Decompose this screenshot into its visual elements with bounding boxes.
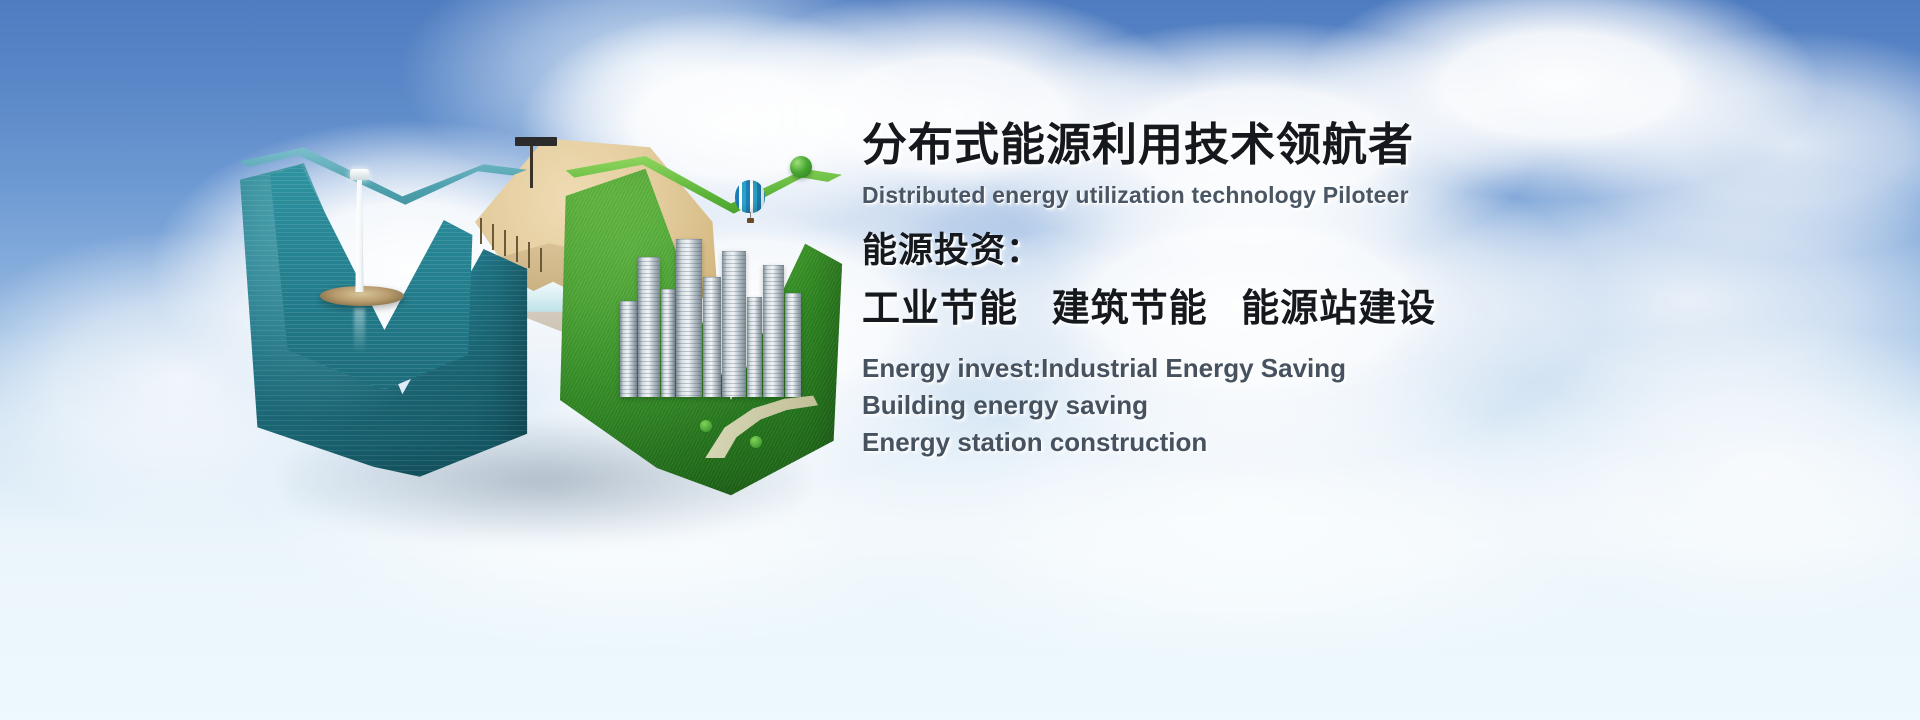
city-skyline	[618, 212, 808, 397]
tree-icon	[750, 436, 762, 448]
seagull-icon	[330, 370, 356, 381]
service-item-building-en: Building energy saving	[862, 387, 1862, 424]
service-list-cn: 工业节能 建筑节能 能源站建设	[862, 290, 1862, 328]
lighthouse-lamp-icon	[350, 169, 369, 180]
w-letter-artwork	[230, 120, 850, 520]
skyscraper-icon	[638, 257, 660, 397]
service-item-station-cn: 能源站建设	[1241, 288, 1436, 330]
seagull-icon	[342, 150, 368, 161]
skyscraper-icon	[722, 251, 746, 397]
page-subtitle: Distributed energy utilization technolog…	[862, 184, 1862, 207]
seagull-icon	[387, 258, 415, 276]
skyscraper-icon	[620, 301, 637, 397]
hot-air-balloon-icon	[735, 180, 765, 224]
service-list-en: Energy invest:Industrial Energy Saving B…	[862, 350, 1862, 461]
banner-copy: 分布式能源利用技术领航者 Distributed energy utilizat…	[862, 122, 1862, 461]
skyscraper-icon	[703, 277, 721, 397]
service-item-building-cn: 建筑节能	[1052, 288, 1208, 330]
balloon-basket	[747, 218, 754, 223]
skyscraper-icon	[763, 265, 784, 397]
tree-icon	[700, 420, 712, 432]
page-title: 分布式能源利用技术领航者	[862, 122, 1862, 167]
balloon-envelope	[735, 180, 765, 213]
service-item-industrial-en: Energy invest:Industrial Energy Saving	[862, 350, 1862, 387]
beach-post-icon	[504, 230, 506, 256]
globe-icon	[790, 156, 812, 178]
beach-post-icon	[492, 224, 494, 250]
seagull-icon	[416, 416, 442, 427]
lighthouse-reflection	[354, 308, 365, 354]
skyscraper-icon	[676, 239, 702, 397]
service-item-industrial-cn: 工业节能	[862, 288, 1018, 330]
skyscraper-icon	[747, 297, 762, 397]
beach-post-icon	[528, 242, 530, 268]
seagull-icon	[280, 162, 306, 173]
signpost-board-icon	[515, 137, 557, 146]
beach-post-icon	[540, 248, 542, 272]
section-label: 能源投资：	[862, 233, 1862, 268]
skyscraper-icon	[661, 289, 675, 397]
skyscraper-icon	[785, 293, 801, 397]
beach-post-icon	[480, 218, 482, 244]
beach-post-icon	[516, 236, 518, 262]
hero-banner: 分布式能源利用技术领航者 Distributed energy utilizat…	[0, 0, 1920, 720]
service-item-station-en: Energy station construction	[862, 424, 1862, 461]
